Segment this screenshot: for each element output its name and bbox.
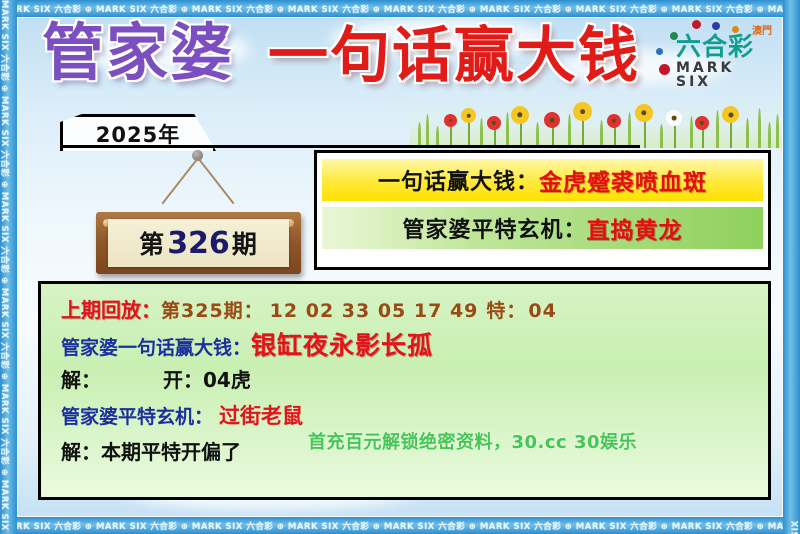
logo-dot: [659, 64, 670, 75]
issue-number: 326: [167, 226, 230, 261]
content-panel: 上期回放： 第325期： 12 02 33 05 17 49 特： 04 管家婆…: [38, 281, 771, 500]
replay-special-label: 特：: [486, 296, 526, 323]
banner-value: 金虎蹙裘喷血斑: [539, 163, 707, 197]
sign-rope-right: [197, 157, 234, 204]
poster-root: MARK SIX 六合彩 ⊕ MARK SIX 六合彩 ⊕ MARK SIX 六…: [0, 0, 800, 534]
replay-issue: 第325期：: [161, 296, 264, 323]
sign-rope-left: [161, 157, 198, 204]
logo-dot: [692, 20, 701, 29]
logo-dot: [656, 48, 663, 55]
row-phrase-answer: 解： 开： 04虎: [41, 364, 768, 400]
logo-name-cn: 六合彩: [676, 34, 754, 59]
replay-special-number: 04: [528, 300, 556, 322]
border-text-vertical-left: MARK SIX 六合彩 ⊕ MARK SIX 六合彩 ⊕ MARK SIX 六…: [0, 0, 14, 534]
issue-prefix: 第: [139, 225, 165, 261]
row-phrase: 管家婆一句话赢大钱： 银缸夜永影长孤: [41, 326, 768, 364]
hanging-sign: 第 326 期: [96, 150, 301, 270]
banner-panel: 一句话赢大钱： 金虎蹙裘喷血斑 管家婆平特玄机： 直捣黄龙: [314, 150, 771, 270]
phrase-label: 管家婆一句话赢大钱：: [61, 333, 251, 360]
border-text: MARK SIX 六合彩 ⊕ MARK SIX 六合彩 ⊕ MARK SIX 六…: [0, 520, 800, 532]
page-title-primary: 管家婆: [42, 22, 234, 84]
banner-row-phrase: 一句话赢大钱： 金虎蹙裘喷血斑: [322, 159, 763, 201]
border-right: MARK SIX 六合彩 ⊕ MARK SIX 六合彩 ⊕ MARK SIX 六…: [783, 0, 800, 534]
phrase-value: 银缸夜永影长孤: [251, 326, 433, 362]
riddle-label: 管家婆平特玄机：: [61, 402, 213, 429]
sign-plank: 第 326 期: [96, 212, 301, 274]
banner-label: 管家婆平特玄机：: [402, 212, 586, 244]
banner-value: 直捣黄龙: [587, 211, 683, 245]
mark-six-logo: 澳門 六合彩 MARK SIX: [646, 20, 774, 82]
border-text: MARK SIX 六合彩 ⊕ MARK SIX 六合彩 ⊕ MARK SIX 六…: [0, 3, 800, 15]
logo-name-en: MARK SIX: [676, 61, 774, 89]
border-bottom: MARK SIX 六合彩 ⊕ MARK SIX 六合彩 ⊕ MARK SIX 六…: [0, 517, 800, 534]
phrase-answer-open-label: 开：: [163, 364, 203, 393]
flower-band-decoration: [410, 96, 782, 148]
border-top: MARK SIX 六合彩 ⊕ MARK SIX 六合彩 ⊕ MARK SIX 六…: [0, 0, 800, 17]
issue-suffix: 期: [232, 225, 258, 261]
logo-region-label: 澳門: [752, 22, 772, 37]
promo-watermark: 首充百元解锁绝密资料，30.cc 30娱乐: [308, 428, 637, 454]
page-title-secondary: 一句话赢大钱: [268, 26, 640, 86]
banner-label: 一句话赢大钱：: [378, 164, 539, 196]
border-text: MARK SIX 六合彩 ⊕ MARK SIX 六合彩 ⊕ MARK SIX 六…: [789, 517, 800, 534]
horizontal-rule: [60, 145, 640, 148]
border-text: MARK SIX 六合彩 ⊕ MARK SIX 六合彩 ⊕ MARK SIX 六…: [0, 0, 12, 534]
replay-numbers: 12 02 33 05 17 49: [270, 300, 479, 322]
riddle-answer-label: 解：: [61, 436, 101, 465]
logo-dot: [712, 22, 720, 30]
phrase-answer-label: 解：: [61, 364, 101, 393]
border-left: MARK SIX 六合彩 ⊕ MARK SIX 六合彩 ⊕ MARK SIX 六…: [0, 0, 17, 534]
sign-paper: 第 326 期: [108, 219, 289, 267]
replay-label: 上期回放：: [61, 294, 161, 323]
row-replay: 上期回放： 第325期： 12 02 33 05 17 49 特： 04: [41, 294, 768, 326]
phrase-answer-value: 04虎: [203, 364, 251, 393]
border-text-vertical-right: MARK SIX 六合彩 ⊕ MARK SIX 六合彩 ⊕ MARK SIX 六…: [786, 517, 800, 534]
riddle-value: 过街老鼠: [219, 400, 303, 430]
riddle-answer-value: 本期平特开偏了: [101, 436, 241, 465]
banner-row-riddle: 管家婆平特玄机： 直捣黄龙: [322, 207, 763, 249]
